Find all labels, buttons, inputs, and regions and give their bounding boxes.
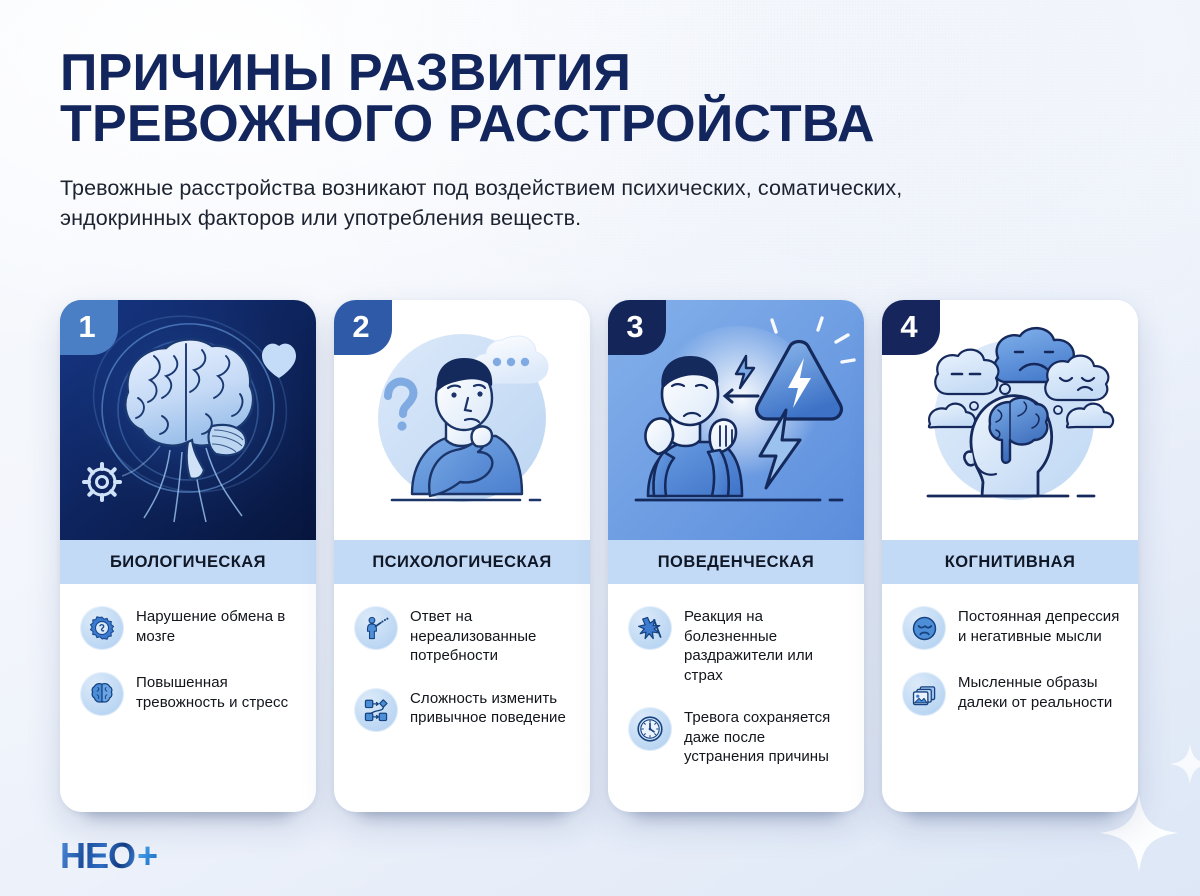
- card-4-bullets: Постоянная депрессия и негативные мысли: [882, 584, 1138, 812]
- photos-icon: [902, 672, 946, 716]
- card-1-bullets: Нарушение обмена в мозге: [60, 584, 316, 812]
- card-2-body: 2 ПСИХОЛОГИЧЕСКАЯ: [334, 300, 590, 812]
- card-3[interactable]: 3 ПОВЕДЕНЧЕСКАЯ Реакция на б: [608, 300, 864, 830]
- infographic-canvas: ПРИЧИНЫ РАЗВИТИЯ ТРЕВОЖНОГО РАССТРОЙСТВА…: [0, 0, 1200, 896]
- page-title: ПРИЧИНЫ РАЗВИТИЯ ТРЕВОЖНОГО РАССТРОЙСТВА: [60, 48, 1090, 151]
- card-1-label-band: БИОЛОГИЧЕСКАЯ: [60, 540, 316, 584]
- card-4-number: 4: [900, 311, 917, 342]
- card-1-label: БИОЛОГИЧЕСКАЯ: [110, 553, 266, 572]
- clock-icon: [628, 707, 672, 751]
- card-4-number-badge: 4: [882, 300, 940, 355]
- card-1-bullet-1: Нарушение обмена в мозге: [80, 606, 300, 650]
- burst-impact-icon: [628, 606, 672, 650]
- card-3-label-band: ПОВЕДЕНЧЕСКАЯ: [608, 540, 864, 584]
- title-line-1: ПРИЧИНЫ РАЗВИТИЯ: [60, 44, 631, 102]
- card-2-bullet-1: Ответ на нереализованные потребности: [354, 606, 574, 666]
- card-3-body: 3 ПОВЕДЕНЧЕСКАЯ Реакция на б: [608, 300, 864, 812]
- card-1-illustration: 1: [60, 300, 316, 540]
- card-3-bullet-2: Тревога сохраняется даже после устранени…: [628, 707, 848, 767]
- card-2-label: ПСИХОЛОГИЧЕСКАЯ: [372, 553, 551, 572]
- card-3-label: ПОВЕДЕНЧЕСКАЯ: [658, 553, 815, 572]
- card-1-number: 1: [78, 311, 95, 342]
- header: ПРИЧИНЫ РАЗВИТИЯ ТРЕВОЖНОГО РАССТРОЙСТВА…: [60, 48, 1090, 234]
- card-1-bullet-2-text: Повышенная тревожность и стресс: [136, 672, 300, 712]
- card-3-bullet-1: Реакция на болезненные раздражители или …: [628, 606, 848, 685]
- card-2[interactable]: 2 ПСИХОЛОГИЧЕСКАЯ: [334, 300, 590, 830]
- card-4-label-band: КОГНИТИВНАЯ: [882, 540, 1138, 584]
- card-3-illustration: 3: [608, 300, 864, 540]
- card-4-bullet-2: Мысленные образы далеки от реальности: [902, 672, 1122, 716]
- card-2-bullet-2: Сложность изменить привычное поведение: [354, 688, 574, 732]
- logo-plus-icon: +: [137, 838, 157, 874]
- card-2-bullet-1-text: Ответ на нереализованные потребности: [410, 606, 574, 666]
- card-3-number: 3: [626, 311, 643, 342]
- card-2-bullets: Ответ на нереализованные потребности: [334, 584, 590, 812]
- card-4-label: КОГНИТИВНАЯ: [945, 553, 1076, 572]
- gear-metabolism-icon: [80, 606, 124, 650]
- card-4-illustration: 4: [882, 300, 1138, 540]
- title-line-2: ТРЕВОЖНОГО РАССТРОЙСТВА: [60, 99, 1090, 150]
- card-4[interactable]: 4 КОГНИТИВНАЯ: [882, 300, 1138, 830]
- card-2-number-badge: 2: [334, 300, 392, 355]
- card-2-illustration: 2: [334, 300, 590, 540]
- card-3-bullets: Реакция на болезненные раздражители или …: [608, 584, 864, 812]
- card-3-bullet-1-text: Реакция на болезненные раздражители или …: [684, 606, 848, 685]
- card-3-bullet-2-text: Тревога сохраняется даже после устранени…: [684, 707, 848, 767]
- brand-logo[interactable]: НЕО +: [60, 838, 157, 874]
- sad-face-icon: [902, 606, 946, 650]
- card-1-bullet-2: Повышенная тревожность и стресс: [80, 672, 300, 716]
- page-subtitle: Тревожные расстройства возникают под воз…: [60, 173, 1020, 234]
- logo-word: НЕО: [60, 838, 135, 874]
- person-reaching-icon: [354, 606, 398, 650]
- card-2-number: 2: [352, 311, 369, 342]
- card-4-bullet-2-text: Мысленные образы далеки от реальности: [958, 672, 1122, 712]
- flowchart-icon: [354, 688, 398, 732]
- card-2-label-band: ПСИХОЛОГИЧЕСКАЯ: [334, 540, 590, 584]
- card-1[interactable]: 1 БИОЛОГИЧЕСКАЯ: [60, 300, 316, 830]
- card-4-body: 4 КОГНИТИВНАЯ: [882, 300, 1138, 812]
- card-1-bullet-1-text: Нарушение обмена в мозге: [136, 606, 300, 646]
- cards-row: 1 БИОЛОГИЧЕСКАЯ: [60, 300, 1146, 830]
- card-3-number-badge: 3: [608, 300, 666, 355]
- card-4-bullet-1: Постоянная депрессия и негативные мысли: [902, 606, 1122, 650]
- card-1-number-badge: 1: [60, 300, 118, 355]
- card-2-bullet-2-text: Сложность изменить привычное поведение: [410, 688, 574, 728]
- brain-icon: [80, 672, 124, 716]
- card-1-body: 1 БИОЛОГИЧЕСКАЯ: [60, 300, 316, 812]
- card-4-bullet-1-text: Постоянная депрессия и негативные мысли: [958, 606, 1122, 646]
